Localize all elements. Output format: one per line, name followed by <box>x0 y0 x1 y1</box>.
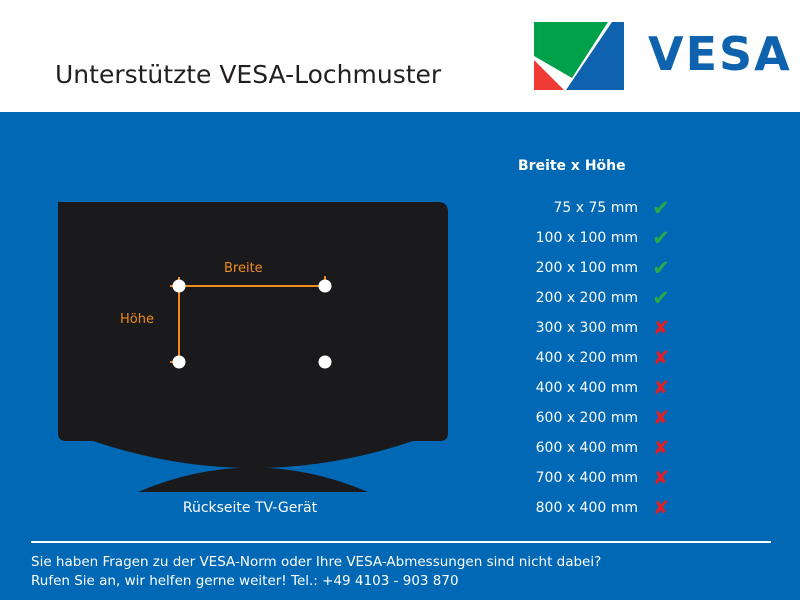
table-row: 400 x 400 mm✘ <box>490 373 720 403</box>
pattern-size-label: 700 x 400 mm <box>490 470 638 486</box>
vesa-pattern-table: Breite x Höhe 75 x 75 mm✔100 x 100 mm✔20… <box>490 158 720 523</box>
table-row: 800 x 400 mm✘ <box>490 493 720 523</box>
mount-hole-bottom-right <box>319 356 332 369</box>
tv-neck <box>240 447 266 471</box>
pattern-size-label: 100 x 100 mm <box>490 230 638 246</box>
tv-base <box>138 468 368 493</box>
table-row: 600 x 400 mm✘ <box>490 433 720 463</box>
pattern-size-label: 600 x 400 mm <box>490 440 638 456</box>
cross-icon: ✘ <box>638 349 684 368</box>
cross-icon: ✘ <box>638 469 684 488</box>
vesa-logo: VESA <box>530 18 785 94</box>
table-row: 400 x 200 mm✘ <box>490 343 720 373</box>
pattern-size-label: 300 x 300 mm <box>490 320 638 336</box>
mount-hole-top-right <box>319 280 332 293</box>
vesa-logo-text: VESA <box>648 27 792 81</box>
pattern-size-label: 75 x 75 mm <box>490 200 638 216</box>
cross-icon: ✘ <box>638 439 684 458</box>
mount-hole-top-left <box>173 280 186 293</box>
table-row: 100 x 100 mm✔ <box>490 223 720 253</box>
height-dimension-label: Höhe <box>120 312 154 327</box>
cross-icon: ✘ <box>638 319 684 338</box>
footer-line-1: Sie haben Fragen zu der VESA-Norm oder I… <box>31 553 776 572</box>
page-header: Unterstützte VESA-Lochmuster VESA <box>0 0 800 112</box>
table-row: 300 x 300 mm✘ <box>490 313 720 343</box>
footer-divider <box>31 541 771 543</box>
pattern-size-label: 600 x 200 mm <box>490 410 638 426</box>
footer-contact-text: Sie haben Fragen zu der VESA-Norm oder I… <box>31 553 776 591</box>
page-title: Unterstützte VESA-Lochmuster <box>55 60 441 89</box>
check-icon: ✔ <box>638 258 684 279</box>
cross-icon: ✘ <box>638 499 684 518</box>
vesa-info-page: Unterstützte VESA-Lochmuster VESA <box>0 0 800 600</box>
table-row: 200 x 200 mm✔ <box>490 283 720 313</box>
pattern-size-label: 200 x 200 mm <box>490 290 638 306</box>
tv-back-diagram: Breite Höhe <box>48 195 458 495</box>
cross-icon: ✘ <box>638 409 684 428</box>
mount-hole-bottom-left <box>173 356 186 369</box>
tv-diagram-caption: Rückseite TV-Gerät <box>0 500 500 516</box>
pattern-size-label: 400 x 400 mm <box>490 380 638 396</box>
table-column-header: Breite x Höhe <box>490 158 720 174</box>
table-row: 600 x 200 mm✘ <box>490 403 720 433</box>
width-dimension-label: Breite <box>224 261 263 276</box>
pattern-size-label: 800 x 400 mm <box>490 500 638 516</box>
footer-line-2: Rufen Sie an, wir helfen gerne weiter! T… <box>31 572 776 591</box>
pattern-size-label: 400 x 200 mm <box>490 350 638 366</box>
pattern-size-label: 200 x 100 mm <box>490 260 638 276</box>
check-icon: ✔ <box>638 198 684 219</box>
table-body: 75 x 75 mm✔100 x 100 mm✔200 x 100 mm✔200… <box>490 193 720 523</box>
check-icon: ✔ <box>638 288 684 309</box>
check-icon: ✔ <box>638 228 684 249</box>
table-row: 200 x 100 mm✔ <box>490 253 720 283</box>
table-row: 75 x 75 mm✔ <box>490 193 720 223</box>
tv-body <box>58 202 448 468</box>
vesa-checkmark-logo-icon <box>530 18 630 94</box>
table-row: 700 x 400 mm✘ <box>490 463 720 493</box>
cross-icon: ✘ <box>638 379 684 398</box>
